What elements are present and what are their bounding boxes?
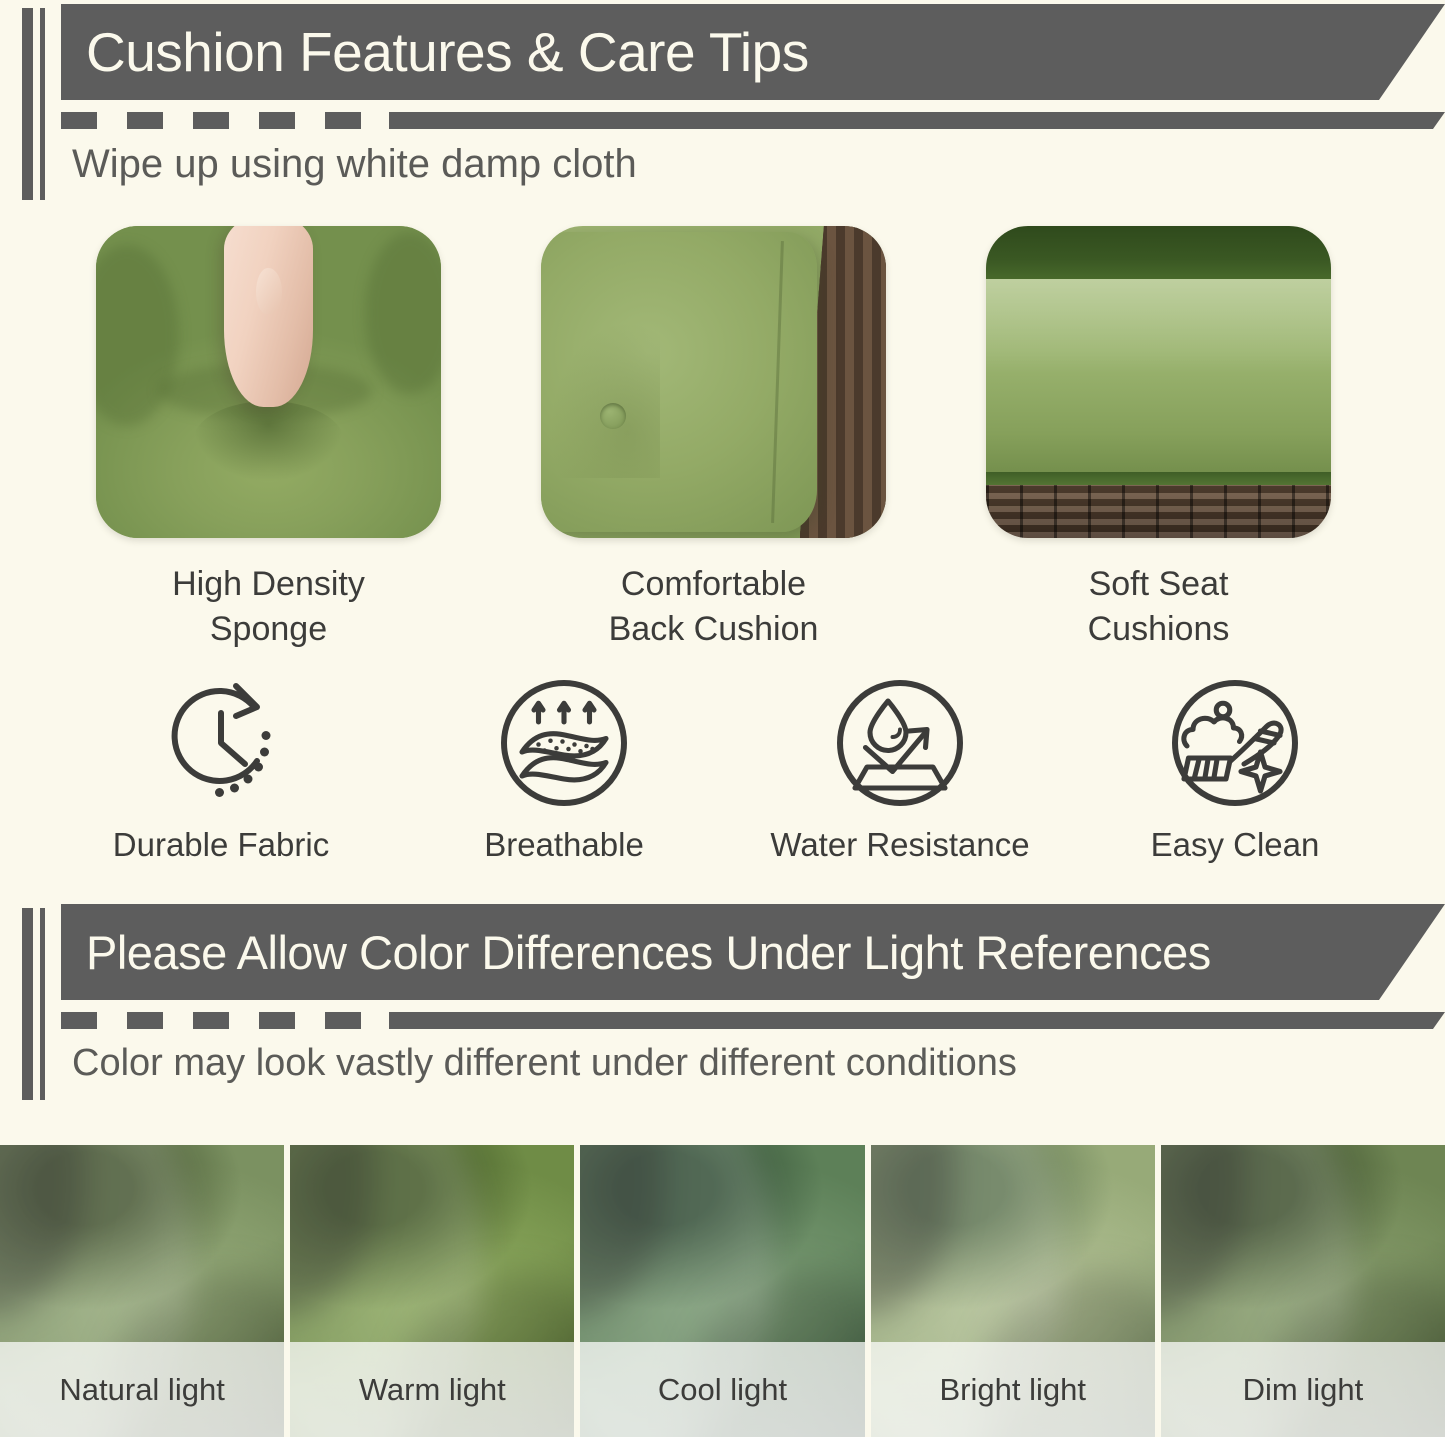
cushion-shape: [541, 232, 817, 532]
photo-caption: Soft Seat Cushions: [986, 562, 1331, 652]
feature-easy-clean: Easy Clean: [1070, 668, 1400, 864]
swatch-label-band: Bright light: [871, 1342, 1155, 1437]
wicker-texture: [986, 485, 1331, 538]
dash-seg: [259, 1012, 295, 1029]
photo-frame: [986, 226, 1331, 538]
banner-bar-thick: [22, 8, 33, 200]
cushion-button: [600, 403, 626, 429]
feature-durable-fabric: Durable Fabric: [56, 668, 386, 864]
care-banner: Cushion Features & Care Tips Wipe up usi…: [0, 0, 1445, 205]
feature-label: Breathable: [399, 826, 729, 864]
swatch-label-band: Cool light: [580, 1342, 864, 1437]
swatch-label-band: Dim light: [1161, 1342, 1445, 1437]
caption-line-1: High Density: [96, 562, 441, 607]
dash-seg: [127, 1012, 163, 1029]
color-dash-rule: [61, 1012, 1445, 1029]
color-banner-title: Please Allow Color Differences Under Lig…: [61, 929, 1211, 976]
photo-card-comfortable-back-cushion: Comfortable Back Cushion: [541, 226, 886, 652]
dash-seg: [61, 112, 97, 129]
caption-line-2: Sponge: [96, 607, 441, 652]
swatch-label-band: Natural light: [0, 1342, 284, 1437]
dash-seg-long: [389, 1012, 1445, 1029]
swatch-natural-light: Natural light: [0, 1145, 284, 1437]
color-banner: Please Allow Color Differences Under Lig…: [0, 900, 1445, 1105]
photo-card-high-density-sponge: High Density Sponge: [96, 226, 441, 652]
brush-cleaning-icon: [1160, 668, 1310, 818]
photo-back-cushion: [541, 226, 886, 538]
photo-seat-cushion: [986, 226, 1331, 538]
color-banner-bar: Please Allow Color Differences Under Lig…: [61, 904, 1445, 1000]
water-droplet-repel-icon: [825, 668, 975, 818]
swatch-label-band: Warm light: [290, 1342, 574, 1437]
banner-bar-thin: [40, 908, 45, 1100]
dash-seg: [61, 1012, 97, 1029]
dash-seg: [325, 1012, 361, 1029]
feature-icon-row: Durable Fabric: [0, 668, 1445, 900]
feature-water-resistance: Water Resistance: [735, 668, 1065, 864]
care-dash-rule: [61, 112, 1445, 129]
dash-seg: [259, 112, 295, 129]
feature-photo-row: High Density Sponge Comfortable Back: [0, 226, 1445, 656]
color-section: Please Allow Color Differences Under Lig…: [0, 900, 1445, 1105]
caption-line-1: Comfortable: [541, 562, 886, 607]
banner-bar-thick: [22, 908, 33, 1100]
swatch-label: Dim light: [1243, 1372, 1364, 1408]
swatch-label: Natural light: [59, 1372, 224, 1408]
photo-frame: [96, 226, 441, 538]
feature-label: Water Resistance: [735, 826, 1065, 864]
banner-bar-thin: [40, 8, 45, 200]
dash-seg: [193, 112, 229, 129]
swatch-dim-light: Dim light: [1161, 1145, 1445, 1437]
feature-label: Durable Fabric: [56, 826, 386, 864]
care-banner-title: Cushion Features & Care Tips: [61, 25, 809, 80]
feature-label: Easy Clean: [1070, 826, 1400, 864]
caption-line-2: Back Cushion: [541, 607, 886, 652]
photo-caption: High Density Sponge: [96, 562, 441, 652]
photo-frame: [541, 226, 886, 538]
swatch-cool-light: Cool light: [580, 1145, 864, 1437]
care-subtitle: Wipe up using white damp cloth: [72, 142, 637, 187]
swatch-warm-light: Warm light: [290, 1145, 574, 1437]
feature-breathable: Breathable: [399, 668, 729, 864]
swatch-label: Bright light: [939, 1372, 1085, 1408]
dash-seg: [193, 1012, 229, 1029]
swatch-bright-light: Bright light: [871, 1145, 1155, 1437]
back-cushion-band: [986, 226, 1331, 282]
clock-arrow-icon: [146, 668, 296, 818]
breathable-fabric-icon: [489, 668, 639, 818]
swatch-label: Warm light: [359, 1372, 506, 1408]
photo-caption: Comfortable Back Cushion: [541, 562, 886, 652]
care-banner-bar: Cushion Features & Care Tips: [61, 4, 1445, 100]
banner-left-bars: [22, 908, 48, 1100]
color-subtitle: Color may look vastly different under di…: [72, 1042, 1017, 1085]
banner-left-bars: [22, 8, 48, 200]
care-section: Cushion Features & Care Tips Wipe up usi…: [0, 0, 1445, 205]
dash-seg-long: [389, 112, 1445, 129]
swatch-label: Cool light: [658, 1372, 787, 1408]
caption-line-2: Cushions: [986, 607, 1331, 652]
color-swatch-row: Natural light Warm light Cool light Brig…: [0, 1145, 1445, 1437]
dash-seg: [325, 112, 361, 129]
photo-card-soft-seat-cushions: Soft Seat Cushions: [986, 226, 1331, 652]
dash-seg: [127, 112, 163, 129]
caption-line-1: Soft Seat: [986, 562, 1331, 607]
hand-shape: [224, 226, 314, 407]
photo-hand-pressing-cushion: [96, 226, 441, 538]
